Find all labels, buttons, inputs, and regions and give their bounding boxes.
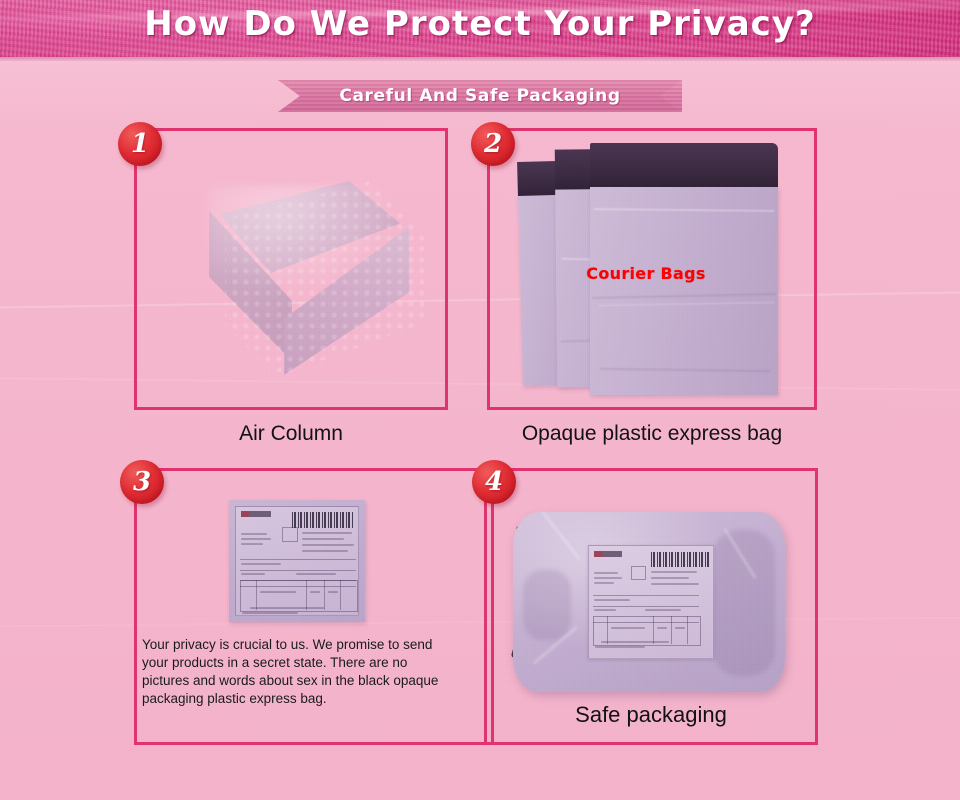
barcode-icon bbox=[651, 552, 709, 567]
waybill-text-line bbox=[595, 646, 645, 648]
panel-badge-1: 1 bbox=[118, 122, 162, 166]
bag-crease bbox=[600, 368, 770, 372]
courier-logo-icon bbox=[594, 551, 622, 557]
waybill-text-line bbox=[250, 607, 324, 609]
waybill-small-box bbox=[631, 566, 646, 580]
waybill-text-line bbox=[241, 543, 263, 545]
waybill-rule bbox=[593, 606, 699, 607]
waybill-text-line bbox=[241, 573, 265, 575]
panel-caption-4: Safe packaging bbox=[484, 702, 818, 728]
air-column-image bbox=[178, 175, 418, 380]
privacy-paragraph: Your privacy is crucial to us. We promis… bbox=[142, 636, 452, 708]
waybill-rule bbox=[240, 559, 356, 560]
waybill-text-line bbox=[302, 550, 348, 552]
waybill-rule bbox=[306, 580, 307, 610]
bag-flap bbox=[590, 143, 778, 191]
waybill-rule bbox=[687, 616, 688, 644]
waybill-text-line bbox=[594, 599, 630, 601]
courier-bags-overlay-text: Courier Bags bbox=[566, 264, 726, 283]
bag-crease bbox=[592, 293, 776, 299]
waybill-text-line bbox=[242, 612, 298, 614]
waybill-small-box bbox=[282, 527, 298, 542]
waybill-text-line bbox=[594, 582, 614, 584]
waybill-text-line bbox=[675, 627, 685, 629]
section-ribbon: Careful And Safe Packaging bbox=[278, 80, 682, 112]
waybill-text-line bbox=[310, 591, 320, 593]
waybill-text-line bbox=[657, 627, 667, 629]
bag-body bbox=[590, 187, 778, 395]
waybill-rule bbox=[653, 616, 654, 644]
panel-badge-2: 2 bbox=[471, 122, 515, 166]
waybill-rule bbox=[593, 595, 699, 596]
panel-caption-2: Opaque plastic express bag bbox=[470, 422, 834, 446]
waybill-text-line bbox=[611, 627, 645, 629]
waybill-text-line bbox=[241, 533, 267, 535]
shipping-label-image bbox=[229, 500, 365, 622]
panel-caption-1: Air Column bbox=[134, 422, 448, 446]
bag-crease bbox=[594, 208, 774, 212]
bag-crease bbox=[598, 301, 774, 306]
waybill-rule bbox=[671, 616, 672, 644]
waybill-text-line bbox=[594, 609, 616, 611]
waybill-rule bbox=[240, 570, 356, 571]
waybill-text-line bbox=[651, 583, 699, 585]
panel-frame-1 bbox=[134, 128, 448, 410]
panel-badge-4: 4 bbox=[472, 460, 516, 504]
ribbon-label: Careful And Safe Packaging bbox=[278, 80, 682, 112]
waybill-text-line bbox=[296, 573, 336, 575]
courier-logo-icon bbox=[241, 511, 271, 517]
waybill-text-line bbox=[241, 563, 281, 565]
waybill-text-line bbox=[594, 577, 622, 579]
waybill-text-line bbox=[302, 532, 352, 534]
waybill-rule bbox=[256, 580, 257, 610]
infographic-page: How Do We Protect Your Privacy? Careful … bbox=[0, 0, 960, 800]
package-fold bbox=[541, 511, 580, 560]
waybill-text-line bbox=[328, 591, 338, 593]
waybill-rule bbox=[340, 580, 341, 610]
package-shadow bbox=[713, 530, 775, 676]
waybill-text-line bbox=[594, 572, 618, 574]
package-shadow bbox=[523, 570, 571, 640]
barcode-icon bbox=[292, 512, 354, 528]
waybill-text-line bbox=[241, 538, 271, 540]
waybill-text-line bbox=[651, 571, 697, 573]
page-title: How Do We Protect Your Privacy? bbox=[0, 4, 960, 44]
waybill-text-line bbox=[302, 544, 354, 546]
waybill-rule bbox=[593, 622, 699, 623]
panel-badge-3: 3 bbox=[120, 460, 164, 504]
waybill-text-line bbox=[601, 641, 669, 643]
waybill-rule bbox=[324, 580, 325, 610]
waybill-text-line bbox=[651, 577, 689, 579]
waybill-text-line bbox=[260, 591, 296, 593]
waybill-rule bbox=[240, 586, 356, 587]
waybill-text-line bbox=[645, 609, 681, 611]
package-shipping-label bbox=[588, 545, 714, 659]
waybill-rule bbox=[607, 616, 608, 644]
air-column-highlight bbox=[208, 185, 398, 295]
waybill-text-line bbox=[302, 538, 344, 540]
waybill-document bbox=[235, 506, 359, 616]
